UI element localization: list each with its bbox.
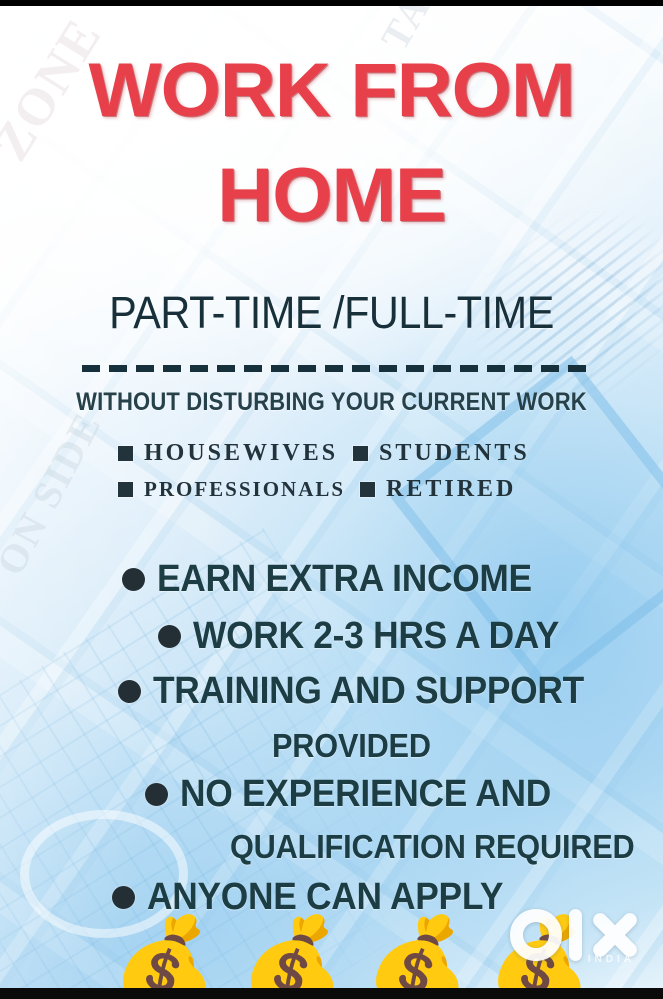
poster-image: ZONE ON SIDE TAL WORK FROM HOME PART-TIM… xyxy=(0,0,663,999)
benefit-continuation-qualification: QUALIFICATION REQUIRED xyxy=(230,828,635,866)
poster-content: WORK FROM HOME PART-TIME /FULL-TIME WITH… xyxy=(0,0,663,999)
benefit-item-work-hours: WORK 2-3 HRS A DAY xyxy=(158,617,587,655)
square-bullet-icon xyxy=(353,446,368,461)
benefit-label: EARN EXTRA INCOME xyxy=(157,560,532,598)
tagline: WITHOUT DISTURBING YOUR CURRENT WORK xyxy=(40,388,623,417)
audience-label: RETIRED xyxy=(386,476,516,503)
round-bullet-icon xyxy=(158,625,181,648)
audience-list: HOUSEWIVES STUDENTS PROFESSIONALS RETIRE… xyxy=(118,440,578,512)
square-bullet-icon xyxy=(360,482,375,497)
benefit-label: WORK 2-3 HRS A DAY xyxy=(193,617,559,655)
benefit-item-training-support: TRAINING AND SUPPORT xyxy=(118,672,616,710)
page-title-line1: WORK FROM xyxy=(0,55,663,127)
benefit-label: NO EXPERIENCE AND xyxy=(180,775,551,813)
audience-row: HOUSEWIVES STUDENTS xyxy=(118,440,578,467)
audience-item-housewives: HOUSEWIVES xyxy=(118,440,353,467)
benefit-item-earn-extra-income: EARN EXTRA INCOME xyxy=(122,560,560,598)
audience-item-students: STUDENTS xyxy=(353,440,530,467)
audience-label: STUDENTS xyxy=(379,440,530,467)
olx-letter-o-icon xyxy=(510,909,562,961)
audience-row: PROFESSIONALS RETIRED xyxy=(118,476,578,503)
frame-top-bar xyxy=(0,0,663,6)
audience-item-retired: RETIRED xyxy=(360,476,516,503)
audience-item-professionals: PROFESSIONALS xyxy=(118,477,360,502)
benefit-label: TRAINING AND SUPPORT xyxy=(153,672,584,710)
benefit-item-no-experience: NO EXPERIENCE AND xyxy=(145,775,579,813)
olx-region-label: INDIA xyxy=(588,954,635,965)
money-bag-icon: 💰 xyxy=(240,918,345,999)
olx-watermark: INDIA xyxy=(510,909,641,961)
audience-label: HOUSEWIVES xyxy=(144,440,338,467)
subtitle: PART-TIME /FULL-TIME xyxy=(27,287,637,339)
round-bullet-icon xyxy=(145,783,168,806)
square-bullet-icon xyxy=(118,446,133,461)
round-bullet-icon xyxy=(118,680,141,703)
round-bullet-icon xyxy=(122,568,145,591)
money-bag-icon: 💰 xyxy=(365,918,470,999)
benefit-continuation-provided: PROVIDED xyxy=(272,727,431,765)
page-title-line2: HOME xyxy=(0,160,663,232)
olx-letter-l-icon xyxy=(569,909,582,961)
audience-label: PROFESSIONALS xyxy=(144,477,345,502)
frame-bottom-bar xyxy=(0,988,663,999)
square-bullet-icon xyxy=(118,482,133,497)
money-bag-icon: 💰 xyxy=(112,918,217,999)
dashed-divider xyxy=(82,365,594,372)
